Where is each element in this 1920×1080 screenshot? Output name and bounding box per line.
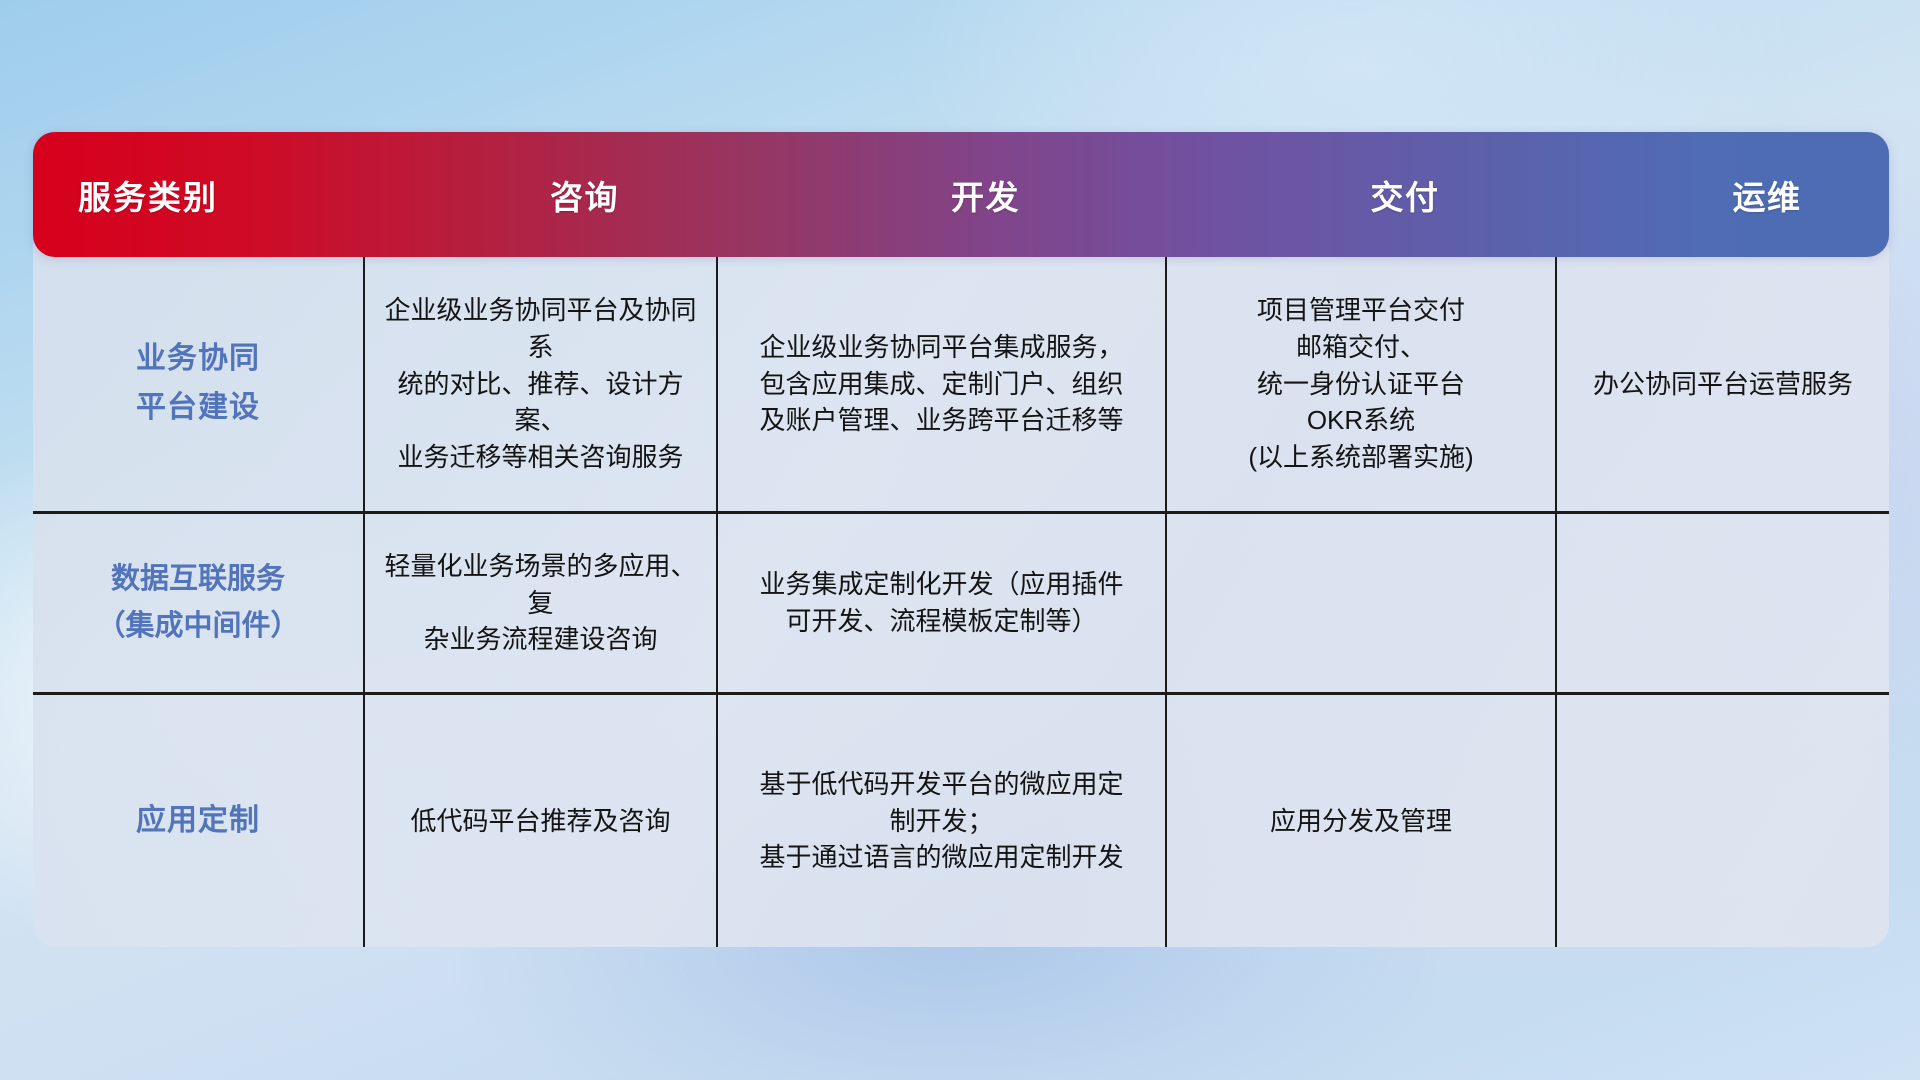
cell-development: 基于低代码开发平台的微应用定 制开发； 基于通过语言的微应用定制开发 xyxy=(716,695,1165,947)
cell-delivery xyxy=(1165,514,1555,692)
service-matrix-table: 服务类别 咨询 开发 交付 运维 业务协同 平台建设 企业级业务协同平台及协同系… xyxy=(33,132,1889,947)
row-category-label: 业务协同 平台建设 xyxy=(33,257,363,511)
table-header-row: 服务类别 咨询 开发 交付 运维 xyxy=(33,132,1889,257)
column-header-operations: 运维 xyxy=(1600,132,1920,257)
cell-development: 企业级业务协同平台集成服务， 包含应用集成、定制门户、组织 及账户管理、业务跨平… xyxy=(716,257,1165,511)
cell-operations xyxy=(1555,514,1889,692)
row-category-label: 应用定制 xyxy=(33,695,363,947)
cell-consulting: 轻量化业务场景的多应用、复 杂业务流程建设咨询 xyxy=(363,514,716,692)
cell-consulting: 低代码平台推荐及咨询 xyxy=(363,695,716,947)
row-category-label: 数据互联服务 （集成中间件） xyxy=(33,514,363,692)
table-body: 业务协同 平台建设 企业级业务协同平台及协同系 统的对比、推荐、设计方案、 业务… xyxy=(33,243,1889,947)
table-row: 应用定制 低代码平台推荐及咨询 基于低代码开发平台的微应用定 制开发； 基于通过… xyxy=(33,692,1889,947)
column-header-category: 服务类别 xyxy=(33,132,408,257)
table-row: 数据互联服务 （集成中间件） 轻量化业务场景的多应用、复 杂业务流程建设咨询 业… xyxy=(33,511,1889,692)
column-header-consulting: 咨询 xyxy=(408,132,761,257)
cell-delivery: 应用分发及管理 xyxy=(1165,695,1555,947)
cell-operations xyxy=(1555,695,1889,947)
cell-delivery: 项目管理平台交付 邮箱交付、 统一身份认证平台 OKR系统 (以上系统部署实施) xyxy=(1165,257,1555,511)
cell-consulting: 企业级业务协同平台及协同系 统的对比、推荐、设计方案、 业务迁移等相关咨询服务 xyxy=(363,257,716,511)
table-row: 业务协同 平台建设 企业级业务协同平台及协同系 统的对比、推荐、设计方案、 业务… xyxy=(33,257,1889,511)
cell-development: 业务集成定制化开发（应用插件 可开发、流程模板定制等） xyxy=(716,514,1165,692)
cell-operations: 办公协同平台运营服务 xyxy=(1555,257,1889,511)
column-header-development: 开发 xyxy=(761,132,1210,257)
column-header-delivery: 交付 xyxy=(1210,132,1600,257)
